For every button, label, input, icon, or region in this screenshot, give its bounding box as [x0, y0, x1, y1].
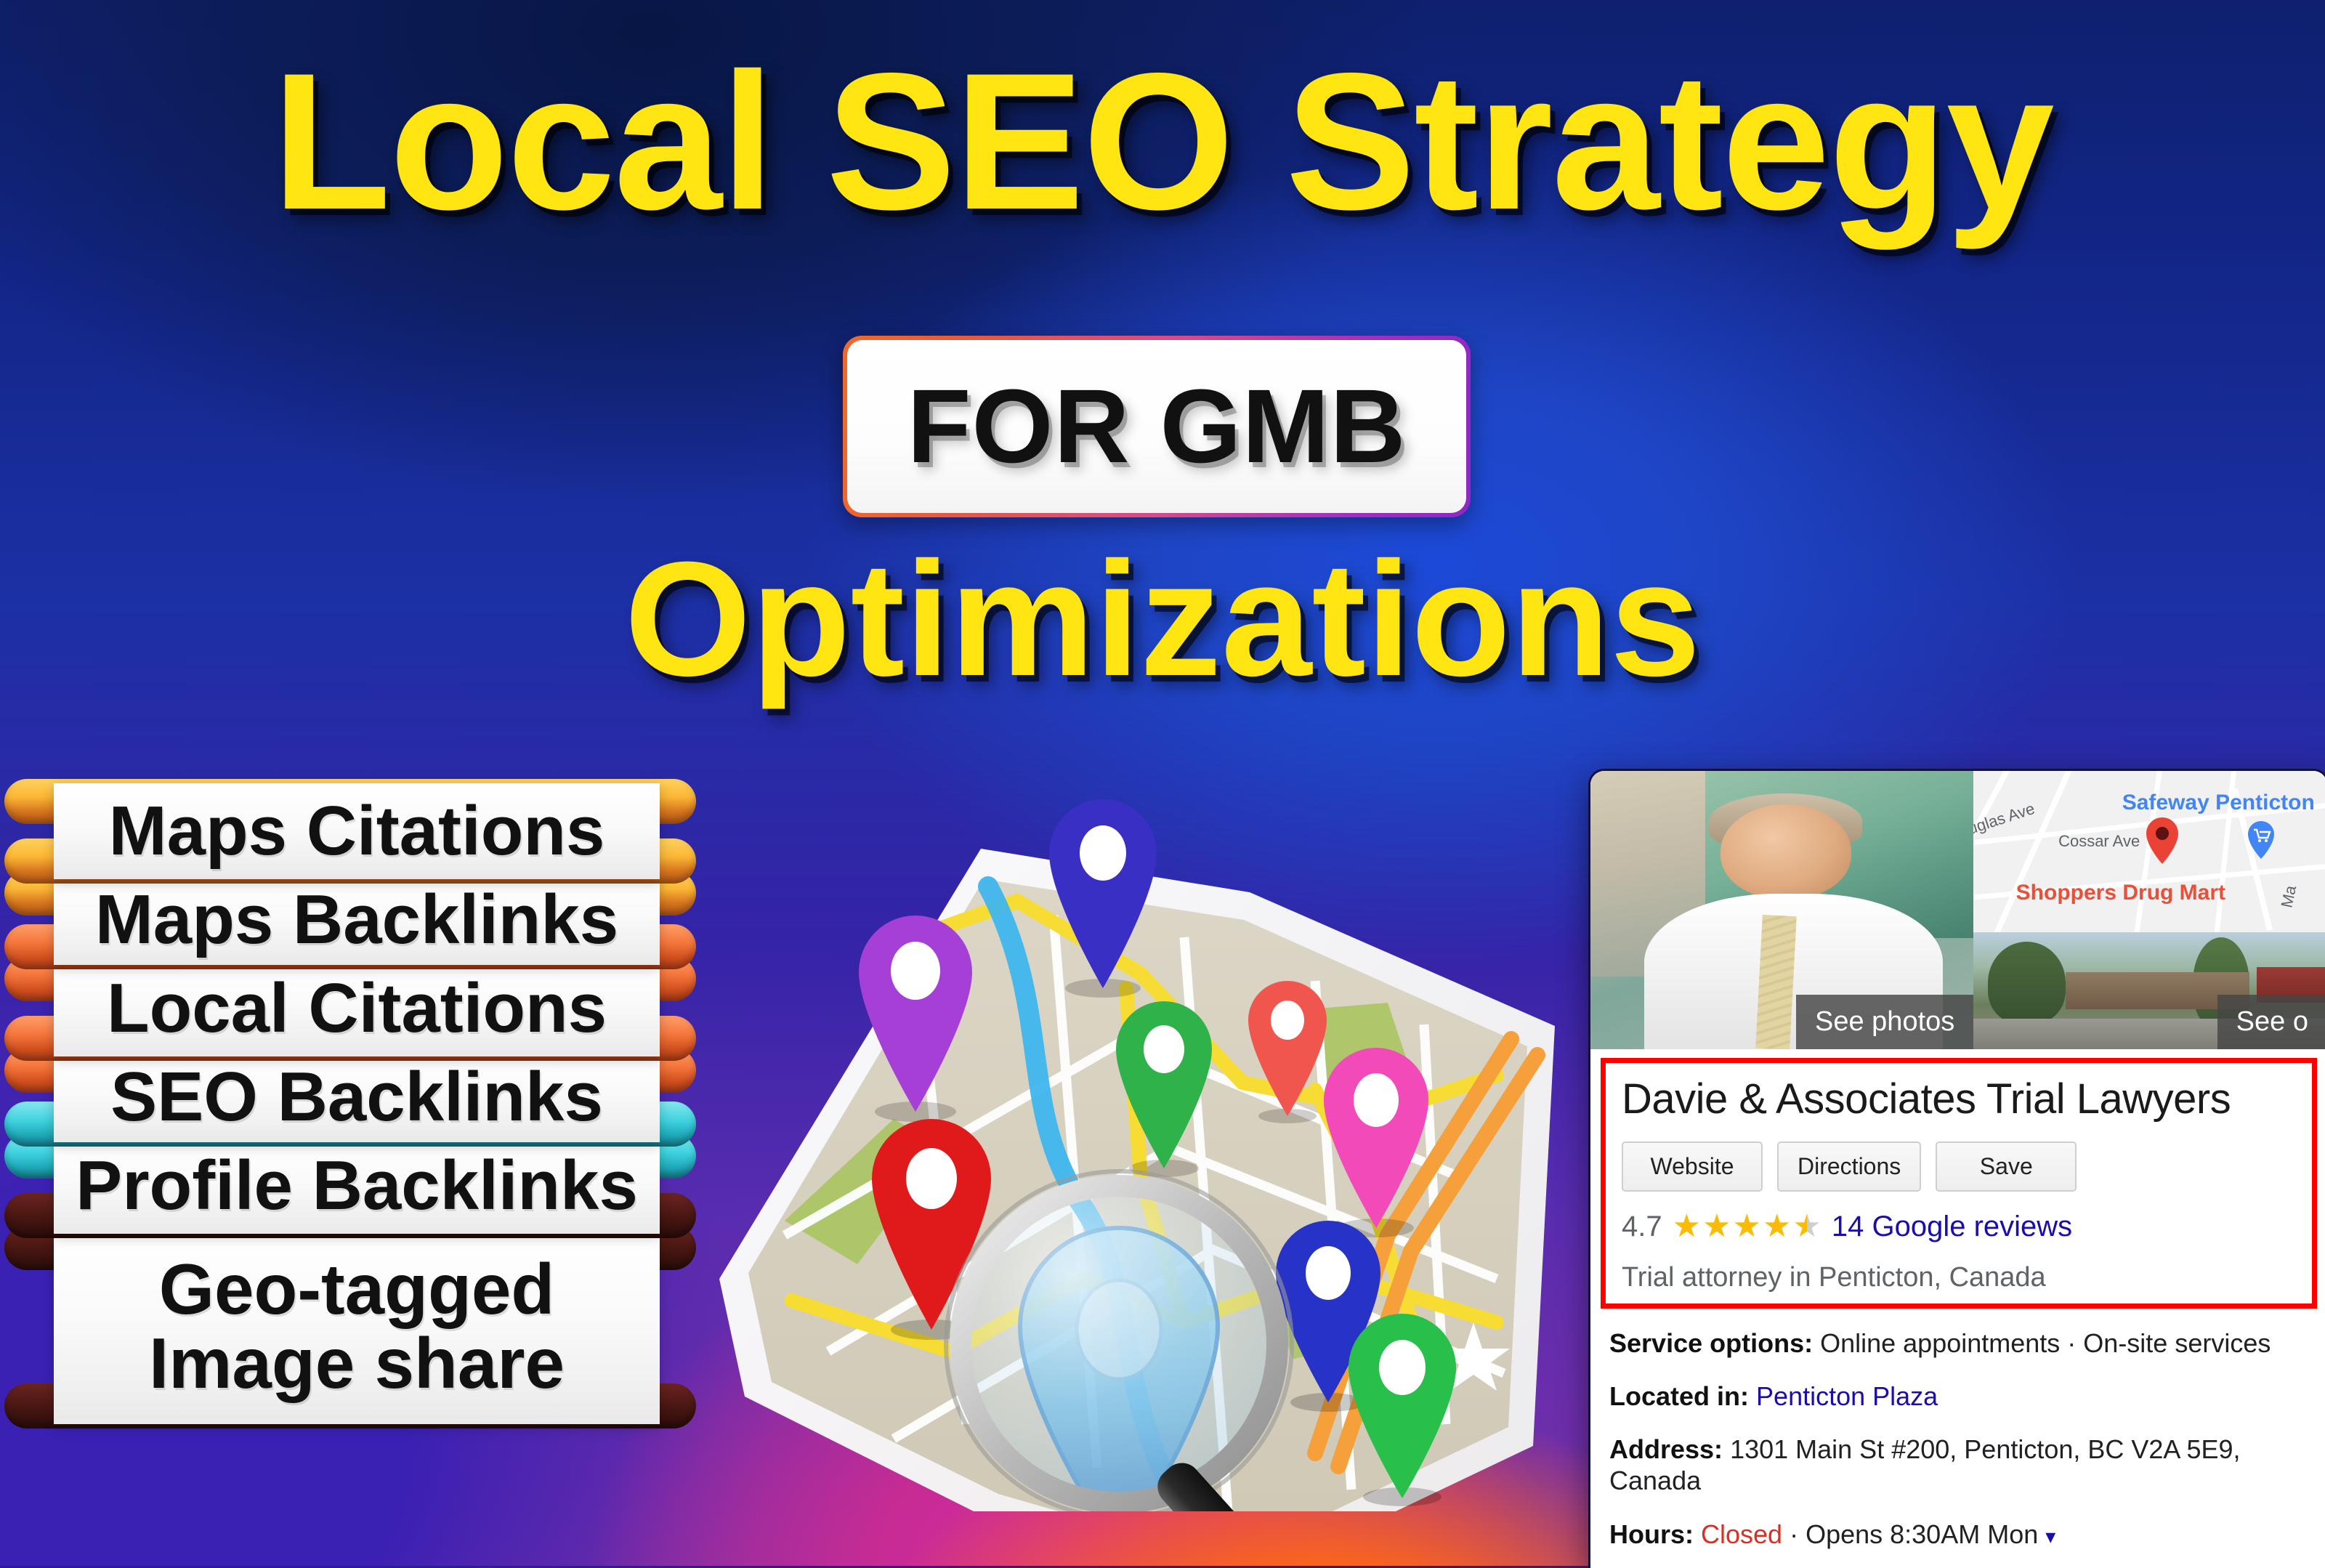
ribbon-body: SEO Backlinks [54, 1052, 660, 1142]
detail-row-hours: Hours: Closed · Opens 8:30AM Mon ▾ [1609, 1519, 2308, 1550]
portrait-photo[interactable]: See photos [1590, 771, 1973, 1049]
see-outside-overlay[interactable]: See o [2217, 995, 2325, 1049]
action-button-row: Website Directions Save [1622, 1141, 2296, 1192]
business-name: Davie & Associates Trial Lawyers [1622, 1076, 2296, 1123]
ribbon-label: Profile Backlinks [76, 1149, 638, 1222]
google-business-profile-card: See photos Safeway Penticton Shoppers Dr… [1588, 769, 2325, 1568]
detail-value-suffix: · Opens 8:30AM Mon [1782, 1519, 2038, 1549]
map-label-safeway: Safeway Penticton [2122, 791, 2315, 815]
detail-key: Located in: [1609, 1381, 1749, 1411]
star-filled: ★ [1733, 1211, 1761, 1242]
map-pin-grocery-icon [2246, 820, 2276, 860]
ribbon-label: Maps Citations [109, 795, 605, 868]
ribbon-body: Geo-tagged Image share [54, 1229, 660, 1424]
ribbon-item-local-citations: Local Citations [26, 961, 680, 1056]
ribbon-label: SEO Backlinks [110, 1061, 603, 1133]
person-face [1720, 804, 1851, 899]
ribbon-label: Geo-tagged Image share [54, 1253, 660, 1401]
business-detail-list: Service options: Online appointments · O… [1590, 1309, 2325, 1550]
ribbon-body: Maps Citations [54, 783, 660, 879]
for-gmb-badge-inner: FOR GMB [847, 340, 1466, 513]
detail-row-locatedin: Located in: Penticton Plaza [1609, 1381, 2308, 1412]
google-reviews-link[interactable]: 14 Google reviews [1832, 1211, 2072, 1243]
for-gmb-badge: FOR GMB [843, 336, 1471, 517]
detail-value: Online appointments · On-site services [1820, 1328, 2271, 1358]
street-view-thumbnail[interactable]: See o [1973, 932, 2325, 1049]
detail-key: Service options: [1609, 1328, 1813, 1358]
detail-key: Hours: [1609, 1519, 1694, 1549]
chevron-down-icon[interactable]: ▾ [2045, 1525, 2055, 1548]
detail-row-address: Address: 1301 Main St #200, Penticton, B… [1609, 1434, 2308, 1496]
page-subtitle: Optimizations [0, 538, 2325, 700]
map-label-cossar: Cossar Ave [2058, 832, 2140, 851]
detail-value-link[interactable]: Penticton Plaza [1756, 1381, 1938, 1411]
photo-grid: See photos Safeway Penticton Shoppers Dr… [1590, 771, 2325, 1049]
map-label-ma: Ma [2277, 884, 2300, 909]
for-gmb-badge-label: FOR GMB [907, 374, 1407, 479]
folded-map-illustration [676, 770, 1577, 1511]
ribbon-item-seo-backlinks: SEO Backlinks [26, 1052, 680, 1142]
detail-row-serviceoptions: Service options: Online appointments · O… [1609, 1327, 2308, 1359]
map-label-shoppers: Shoppers Drug Mart [2016, 881, 2225, 905]
star-half: ★ [1792, 1211, 1821, 1242]
detail-key: Address: [1609, 1434, 1723, 1464]
ribbon-body: Profile Backlinks [54, 1138, 660, 1234]
ribbon-body: Maps Backlinks [54, 875, 660, 965]
map-thumbnail[interactable]: Safeway Penticton Shoppers Drug Mart Cos… [1973, 771, 2325, 932]
map-pin-primary [2143, 816, 2181, 865]
right-photo-column: Safeway Penticton Shoppers Drug Mart Cos… [1973, 771, 2325, 1049]
page-title: Local SEO Strategy [0, 44, 2325, 238]
directions-button[interactable]: Directions [1777, 1141, 1921, 1192]
business-category: Trial attorney in Penticton, Canada [1622, 1262, 2296, 1293]
ribbon-body: Local Citations [54, 961, 660, 1056]
star-filled: ★ [1673, 1211, 1701, 1242]
business-info-highlight-box: Davie & Associates Trial Lawyers davie W… [1601, 1058, 2317, 1309]
website-button[interactable]: Website [1622, 1141, 1763, 1192]
see-photos-overlay[interactable]: See photos [1796, 995, 1973, 1049]
save-button[interactable]: Save [1936, 1141, 2077, 1192]
ribbon-label: Local Citations [107, 972, 607, 1045]
star-filled: ★ [1763, 1211, 1791, 1242]
person-tie [1755, 915, 1797, 1049]
star-filled: ★ [1702, 1211, 1731, 1242]
ribbon-item-profile-backlinks: Profile Backlinks [26, 1138, 680, 1234]
service-ribbon-list: Maps CitationsMaps BacklinksLocal Citati… [26, 783, 680, 1420]
star-rating: ★ ★ ★ ★ ★ [1673, 1211, 1821, 1242]
ribbon-item-geo-tagged-image-share: Geo-tagged Image share [26, 1229, 680, 1424]
street-tree [1988, 942, 2066, 1024]
rating-row: 4.7 ★ ★ ★ ★ ★ 14 Google reviews [1622, 1211, 2296, 1243]
rating-value: 4.7 [1622, 1211, 1662, 1243]
map-label-douglas: uglas Ave [1973, 799, 2037, 838]
ribbon-item-maps-citations: Maps Citations [26, 783, 680, 879]
ribbon-item-maps-backlinks: Maps Backlinks [26, 875, 680, 965]
ribbon-label: Maps Backlinks [95, 884, 618, 956]
status-badge: Closed [1701, 1519, 1782, 1549]
